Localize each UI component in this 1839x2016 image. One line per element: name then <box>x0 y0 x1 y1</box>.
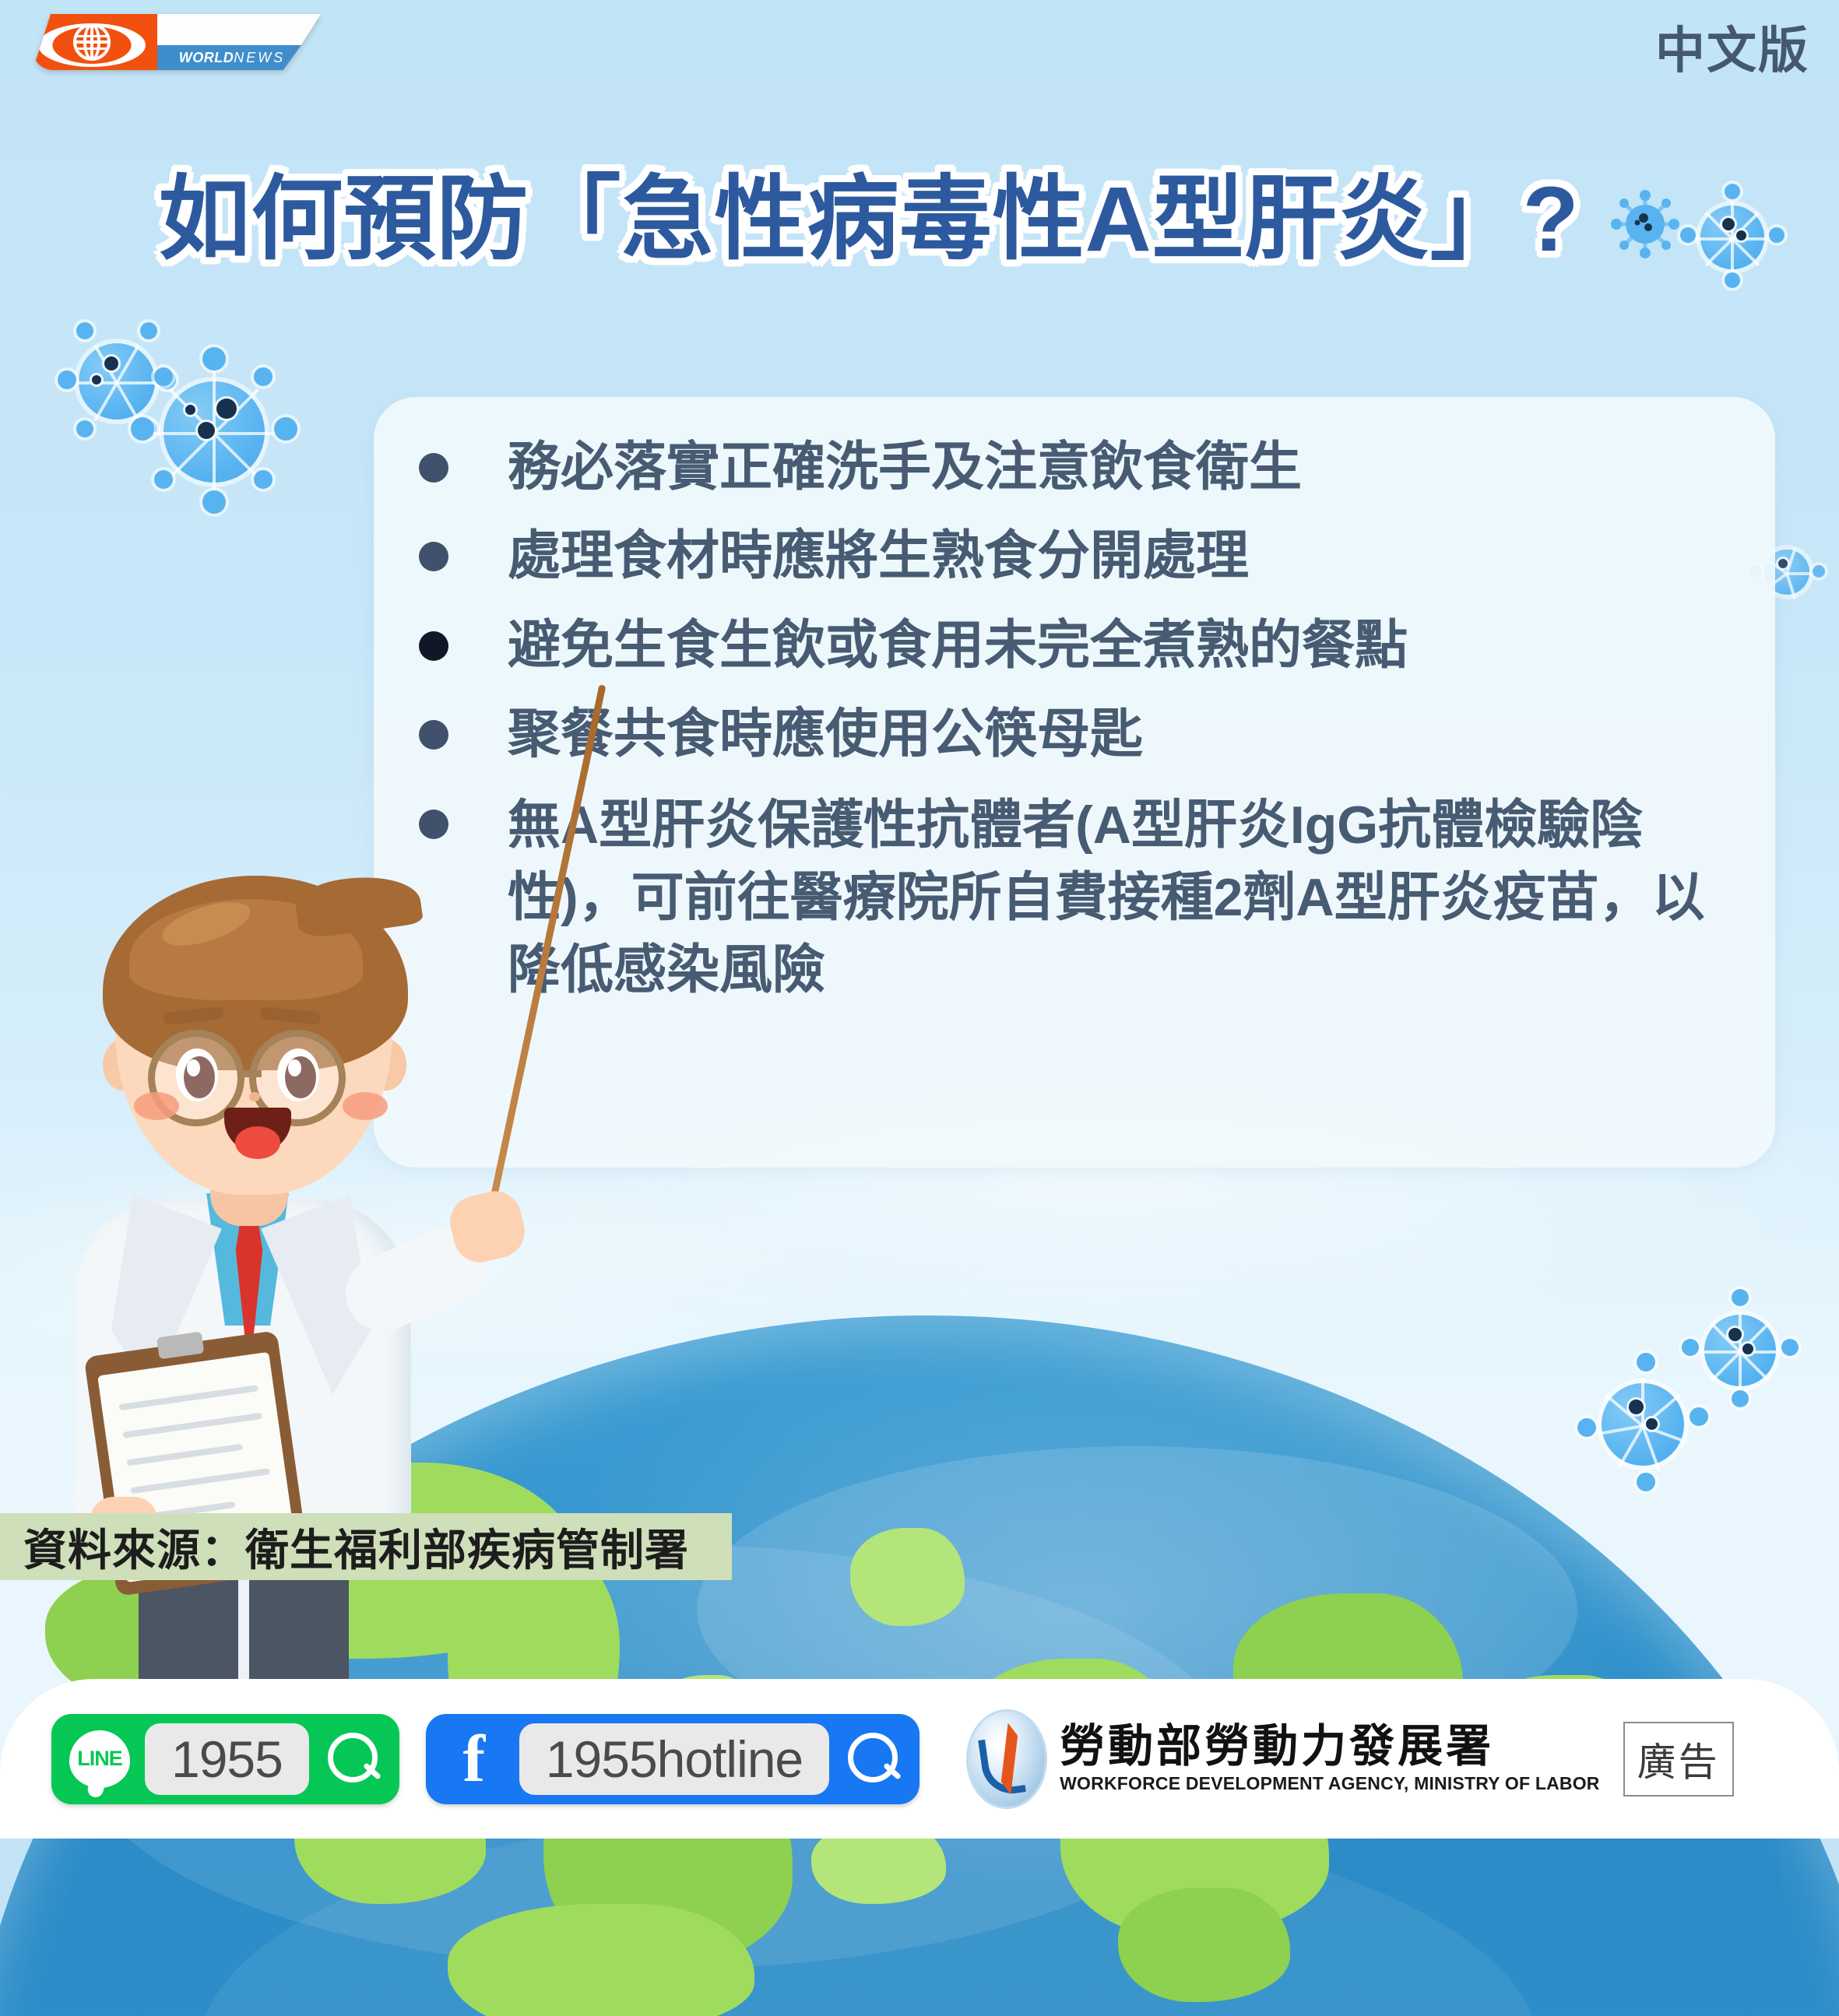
ad-label: 廣告 <box>1623 1722 1734 1796</box>
list-item: 務必落實正確洗手及注意飲食衛生 <box>419 433 1747 501</box>
bullet-dot-icon <box>419 542 448 571</box>
page-title: 如何預防「急性病毒性A型肝炎」? <box>0 144 1839 282</box>
logo-blue-panel: WORLDNEWS <box>157 45 321 70</box>
virus-icon <box>1609 176 1681 282</box>
agency-name-zh: 勞動部勞動力發展署 <box>1060 1723 1599 1771</box>
logo-orange-panel <box>33 14 161 70</box>
line-contact-badge[interactable]: LINE 1955 <box>51 1714 399 1804</box>
facebook-contact-badge[interactable]: f 1955hotline <box>426 1714 919 1804</box>
line-icon: LINE <box>69 1728 131 1790</box>
list-item: 避免生食生飲或食用未完全煮熟的餐點 <box>419 611 1747 680</box>
prevention-bullet-list: 務必落實正確洗手及注意飲食衛生 處理食材時應將生熟食分開處理 避免生食生飲或食用… <box>419 433 1747 1006</box>
line-id-value: 1955 <box>145 1723 309 1795</box>
bullet-dot-icon <box>419 631 448 661</box>
search-icon[interactable] <box>323 1730 382 1789</box>
search-icon[interactable] <box>843 1730 902 1789</box>
virus-icon <box>117 335 311 529</box>
globe-icon <box>73 23 111 61</box>
bullet-text: 聚餐共食時應使用公筷母匙 <box>508 700 1143 768</box>
source-attribution-bar: 資料來源：衛生福利部疾病管制署 <box>0 1513 732 1580</box>
list-item: 無A型肝炎保護性抗體者(A型肝炎IgG抗體檢驗陰性)，可前往醫療院所自費接種2劑… <box>419 789 1747 1006</box>
page-title-text: 如何預防「急性病毒性A型肝炎」? <box>158 168 1579 271</box>
source-text: 資料來源：衛生福利部疾病管制署 <box>23 1516 689 1579</box>
agency-branding: 勞動部勞動力發展署 WORKFORCE DEVELOPMENT AGENCY, … <box>966 1709 1733 1809</box>
bullet-text: 務必落實正確洗手及注意飲食衛生 <box>508 433 1302 501</box>
bullet-text: 處理食材時應將生熟食分開處理 <box>508 522 1249 590</box>
bullet-dot-icon <box>419 810 448 839</box>
world-news-logo: WORLDNEWS <box>33 14 321 70</box>
facebook-page-value: 1955hotline <box>519 1723 829 1795</box>
agency-logo-icon <box>966 1709 1047 1809</box>
footer-bar: LINE 1955 f 1955hotline 勞動部勞動力發展署 WORKFO… <box>0 1679 1839 1839</box>
bullet-dot-icon <box>419 720 448 750</box>
list-item: 聚餐共食時應使用公筷母匙 <box>419 700 1747 768</box>
bullet-dot-icon <box>419 453 448 483</box>
virus-icon <box>1565 1347 1721 1502</box>
logo-sub-text: NEWS <box>234 50 285 65</box>
logo-white-panel <box>157 14 321 45</box>
bullet-text: 無A型肝炎保護性抗體者(A型肝炎IgG抗體檢驗陰性)，可前往醫療院所自費接種2劑… <box>508 789 1747 1006</box>
facebook-icon: f <box>443 1728 505 1790</box>
list-item: 處理食材時應將生熟食分開處理 <box>419 522 1747 590</box>
language-label[interactable]: 中文版 <box>1655 11 1809 83</box>
agency-name-en: WORKFORCE DEVELOPMENT AGENCY, MINISTRY O… <box>1060 1773 1599 1794</box>
bullet-text: 避免生食生飲或食用未完全煮熟的餐點 <box>508 611 1408 680</box>
logo-main-text: WORLD <box>179 50 234 65</box>
